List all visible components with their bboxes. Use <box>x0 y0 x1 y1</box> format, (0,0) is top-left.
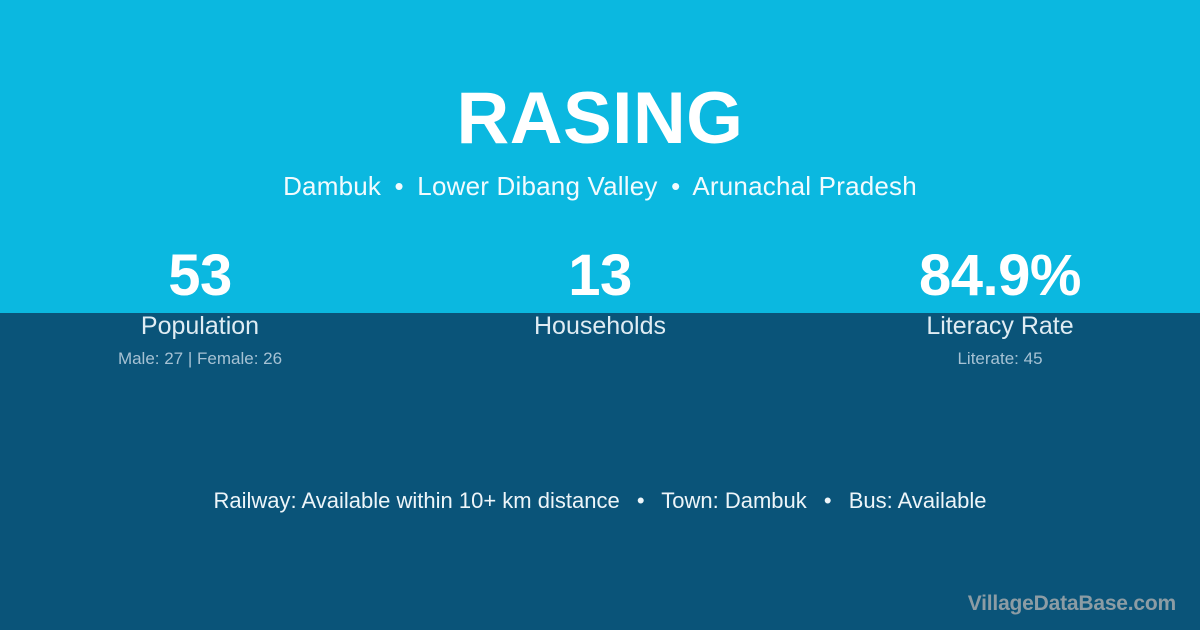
card-header: RASING Dambuk • Lower Dibang Valley • Ar… <box>0 0 1200 199</box>
breadcrumb-block: Dambuk <box>283 171 381 201</box>
amenity-separator-icon: • <box>626 488 656 513</box>
village-name-title: RASING <box>0 82 1200 155</box>
amenity-town: Town: Dambuk <box>661 488 807 513</box>
stat-sublabel: Male: 27 | Female: 26 <box>0 349 400 369</box>
stat-value: 84.9% <box>800 246 1200 306</box>
stat-sublabel: Literate: 45 <box>800 349 1200 369</box>
breadcrumb-separator-icon: • <box>389 171 410 201</box>
stat-households: 13 Households <box>400 246 800 369</box>
location-breadcrumb: Dambuk • Lower Dibang Valley • Arunachal… <box>0 173 1200 199</box>
stat-value: 53 <box>0 246 400 306</box>
village-info-card: RASING Dambuk • Lower Dibang Valley • Ar… <box>0 0 1200 630</box>
breadcrumb-separator-icon: • <box>665 171 686 201</box>
site-watermark: VillageDataBase.com <box>968 592 1176 616</box>
breadcrumb-district: Lower Dibang Valley <box>417 171 657 201</box>
stat-population: 53 Population Male: 27 | Female: 26 <box>0 246 400 369</box>
amenity-bus: Bus: Available <box>849 488 987 513</box>
breadcrumb-state: Arunachal Pradesh <box>692 171 917 201</box>
stat-label: Households <box>400 312 800 340</box>
stat-value: 13 <box>400 246 800 306</box>
amenities-line: Railway: Available within 10+ km distanc… <box>0 487 1200 514</box>
amenity-separator-icon: • <box>813 488 843 513</box>
stat-label: Literacy Rate <box>800 312 1200 340</box>
statistics-row: 53 Population Male: 27 | Female: 26 13 H… <box>0 246 1200 369</box>
stat-literacy-rate: 84.9% Literacy Rate Literate: 45 <box>800 246 1200 369</box>
stat-label: Population <box>0 312 400 340</box>
stat-sublabel <box>400 349 800 369</box>
amenity-railway: Railway: Available within 10+ km distanc… <box>213 488 619 513</box>
